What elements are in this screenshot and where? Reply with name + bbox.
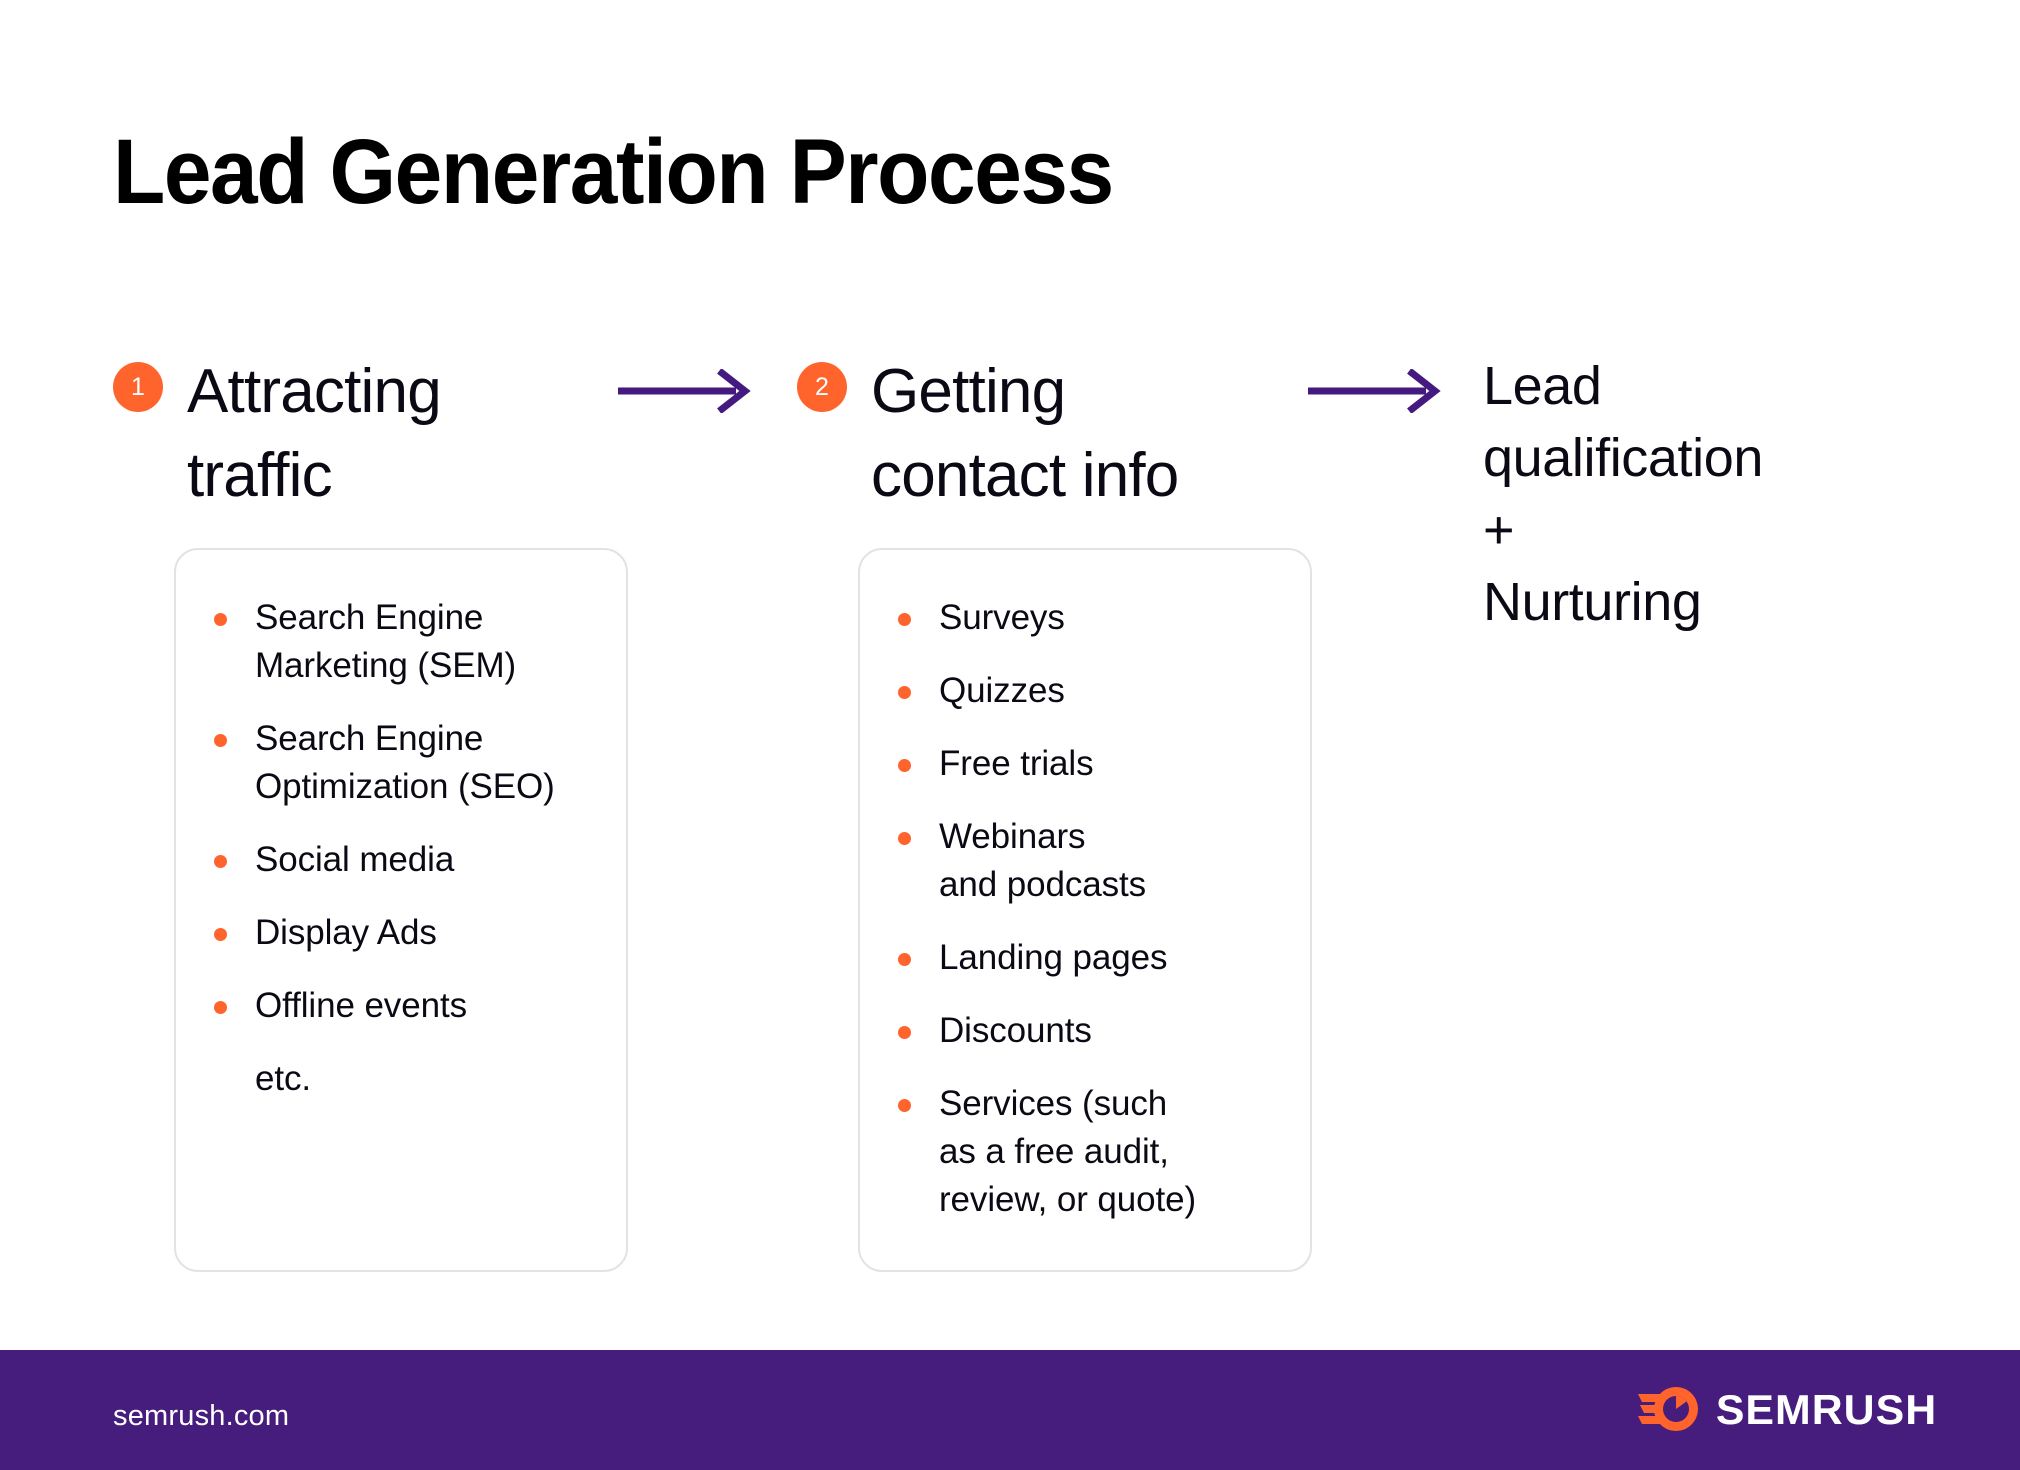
list-item: Surveys: [896, 594, 1280, 642]
bullet-dot-icon: [214, 734, 227, 747]
stage-getting-contact-info: 2 Getting contact info: [797, 350, 1357, 518]
footer-website-url[interactable]: semrush.com: [113, 1400, 289, 1433]
list-item: Display Ads: [212, 909, 596, 957]
stage-2-card: Surveys Quizzes Free trials Webinars and…: [858, 548, 1312, 1272]
bullet-dot-icon: [898, 832, 911, 845]
bullet-dot-icon: [214, 1001, 227, 1014]
arrow-right-icon-1: [618, 369, 758, 413]
bullet-dot-icon: [898, 613, 911, 626]
list-item: Discounts: [896, 1007, 1280, 1055]
list-item-label: Search Engine Marketing (SEM): [255, 598, 516, 685]
semrush-wordmark: SEMRUSH: [1716, 1386, 1937, 1434]
list-item-label: Quizzes: [939, 671, 1065, 710]
list-item-label: Free trials: [939, 744, 1094, 783]
list-item: Offline events: [212, 982, 596, 1030]
stage-1-card: Search Engine Marketing (SEM) Search Eng…: [174, 548, 628, 1272]
bullet-dot-icon: [898, 1099, 911, 1112]
bullet-dot-icon: [898, 686, 911, 699]
bullet-dot-icon: [898, 759, 911, 772]
bullet-dot-icon: [214, 855, 227, 868]
footer-bar: semrush.com SEMRUSH: [0, 1350, 2020, 1470]
stage-2-number-badge: 2: [797, 362, 847, 412]
bullet-dot-icon: [214, 928, 227, 941]
stage-lead-qualification-nurturing: Lead qualification + Nurturing: [1483, 350, 1923, 638]
list-item: Search Engine Optimization (SEO): [212, 715, 596, 811]
list-item: Search Engine Marketing (SEM): [212, 594, 596, 690]
list-item: Webinars and podcasts: [896, 813, 1280, 909]
list-item-etc: etc.: [212, 1055, 596, 1103]
semrush-comet-icon: [1638, 1386, 1700, 1434]
stage-2-list: Surveys Quizzes Free trials Webinars and…: [860, 550, 1310, 1224]
list-item-label: Webinars and podcasts: [939, 817, 1146, 904]
stage-3-header: Lead qualification + Nurturing: [1483, 350, 1923, 638]
list-item-label: Social media: [255, 840, 454, 879]
bullet-dot-icon: [214, 613, 227, 626]
page-title: Lead Generation Process: [113, 122, 1113, 222]
list-item: Services (such as a free audit, review, …: [896, 1080, 1280, 1224]
list-item-label: Services (such as a free audit, review, …: [939, 1084, 1196, 1219]
list-item-label: Surveys: [939, 598, 1065, 637]
list-item-label: Offline events: [255, 986, 467, 1025]
bullet-dot-icon: [898, 953, 911, 966]
stage-3-title: Lead qualification + Nurturing: [1483, 350, 1763, 638]
list-item: Quizzes: [896, 667, 1280, 715]
list-item-label: Search Engine Optimization (SEO): [255, 719, 555, 806]
stage-1-title: Attracting traffic: [187, 350, 441, 518]
stage-1-list: Search Engine Marketing (SEM) Search Eng…: [176, 550, 626, 1103]
bullet-dot-icon: [898, 1026, 911, 1039]
stage-attracting-traffic: 1 Attracting traffic: [113, 350, 673, 518]
stage-1-header: 1 Attracting traffic: [113, 350, 673, 518]
stage-1-number-badge: 1: [113, 362, 163, 412]
semrush-logo: SEMRUSH: [1638, 1386, 1935, 1434]
list-item: Free trials: [896, 740, 1280, 788]
stage-2-header: 2 Getting contact info: [797, 350, 1357, 518]
list-item-label: Landing pages: [939, 938, 1167, 977]
list-item-label: Display Ads: [255, 913, 437, 952]
stage-2-title: Getting contact info: [871, 350, 1178, 518]
list-item-label: Discounts: [939, 1011, 1092, 1050]
list-item: Landing pages: [896, 934, 1280, 982]
list-item: Social media: [212, 836, 596, 884]
list-item-label: etc.: [255, 1059, 311, 1098]
arrow-right-icon-2: [1308, 369, 1448, 413]
